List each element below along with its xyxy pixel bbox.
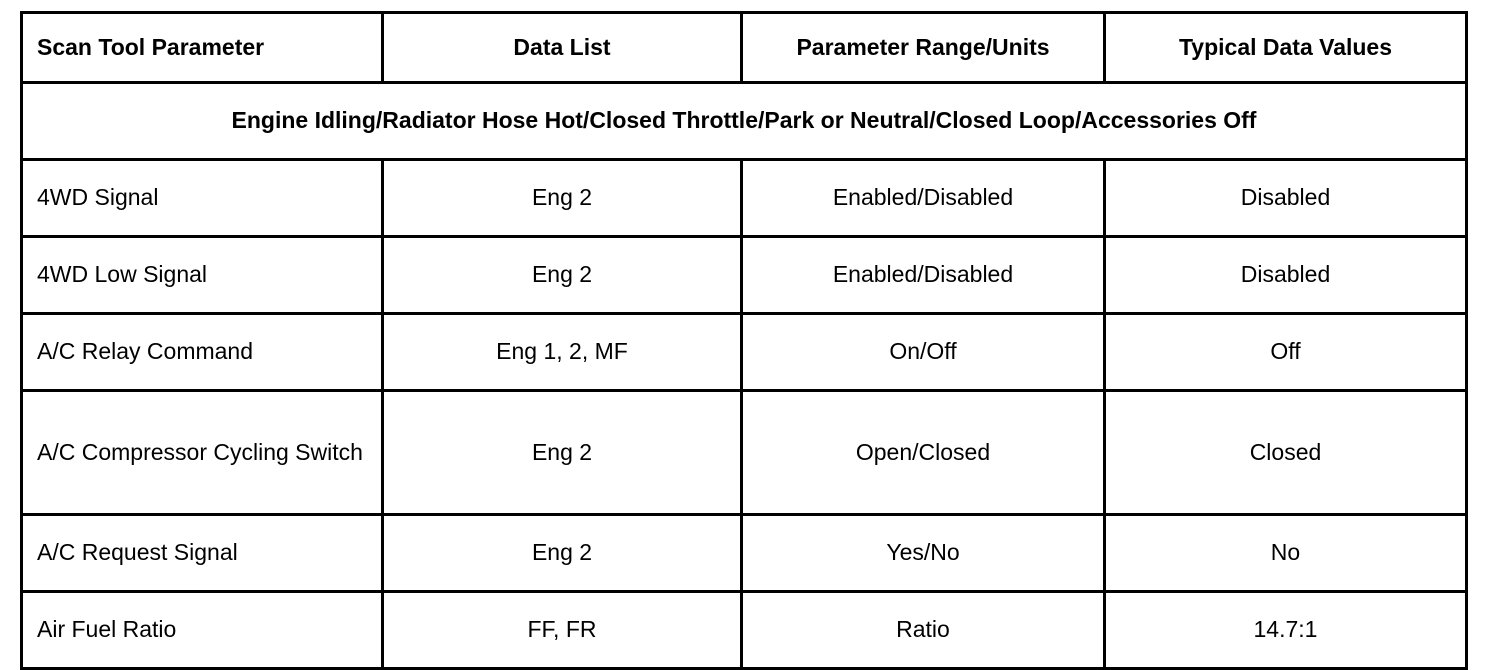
column-header-data-list: Data List: [383, 13, 742, 83]
condition-row-label: Engine Idling/Radiator Hose Hot/Closed T…: [22, 83, 1467, 160]
cell-typical-data-value: Off: [1105, 314, 1467, 391]
cell-scan-tool-parameter: A/C Relay Command: [22, 314, 383, 391]
cell-data-list: Eng 2: [383, 391, 742, 515]
table-header-row: Scan Tool Parameter Data List Parameter …: [22, 13, 1467, 83]
cell-data-list: Eng 2: [383, 160, 742, 237]
table-condition-row: Engine Idling/Radiator Hose Hot/Closed T…: [22, 83, 1467, 160]
cell-typical-data-value: 14.7:1: [1105, 592, 1467, 669]
table-row: Air Fuel Ratio FF, FR Ratio 14.7:1: [22, 592, 1467, 669]
cell-data-list: FF, FR: [383, 592, 742, 669]
cell-typical-data-value: No: [1105, 515, 1467, 592]
column-header-scan-tool-parameter: Scan Tool Parameter: [22, 13, 383, 83]
cell-typical-data-value: Disabled: [1105, 160, 1467, 237]
table-row: A/C Request Signal Eng 2 Yes/No No: [22, 515, 1467, 592]
table-row: 4WD Signal Eng 2 Enabled/Disabled Disabl…: [22, 160, 1467, 237]
cell-data-list: Eng 1, 2, MF: [383, 314, 742, 391]
column-header-typical-data-values: Typical Data Values: [1105, 13, 1467, 83]
cell-parameter-range-units: Enabled/Disabled: [742, 237, 1105, 314]
cell-data-list: Eng 2: [383, 237, 742, 314]
cell-scan-tool-parameter: Air Fuel Ratio: [22, 592, 383, 669]
table-row: A/C Compressor Cycling Switch Eng 2 Open…: [22, 391, 1467, 515]
table-row: A/C Relay Command Eng 1, 2, MF On/Off Of…: [22, 314, 1467, 391]
cell-parameter-range-units: Open/Closed: [742, 391, 1105, 515]
cell-parameter-range-units: On/Off: [742, 314, 1105, 391]
scan-tool-parameter-table-container: Scan Tool Parameter Data List Parameter …: [20, 11, 1465, 670]
cell-typical-data-value: Closed: [1105, 391, 1467, 515]
cell-parameter-range-units: Ratio: [742, 592, 1105, 669]
cell-parameter-range-units: Enabled/Disabled: [742, 160, 1105, 237]
scan-tool-parameter-table: Scan Tool Parameter Data List Parameter …: [20, 11, 1468, 670]
table-row: 4WD Low Signal Eng 2 Enabled/Disabled Di…: [22, 237, 1467, 314]
cell-scan-tool-parameter: A/C Request Signal: [22, 515, 383, 592]
table-header: Scan Tool Parameter Data List Parameter …: [22, 13, 1467, 83]
cell-scan-tool-parameter: 4WD Signal: [22, 160, 383, 237]
cell-parameter-range-units: Yes/No: [742, 515, 1105, 592]
cell-typical-data-value: Disabled: [1105, 237, 1467, 314]
cell-scan-tool-parameter: A/C Compressor Cycling Switch: [22, 391, 383, 515]
cell-data-list: Eng 2: [383, 515, 742, 592]
cell-scan-tool-parameter: 4WD Low Signal: [22, 237, 383, 314]
table-body: Engine Idling/Radiator Hose Hot/Closed T…: [22, 83, 1467, 669]
column-header-parameter-range-units: Parameter Range/Units: [742, 13, 1105, 83]
